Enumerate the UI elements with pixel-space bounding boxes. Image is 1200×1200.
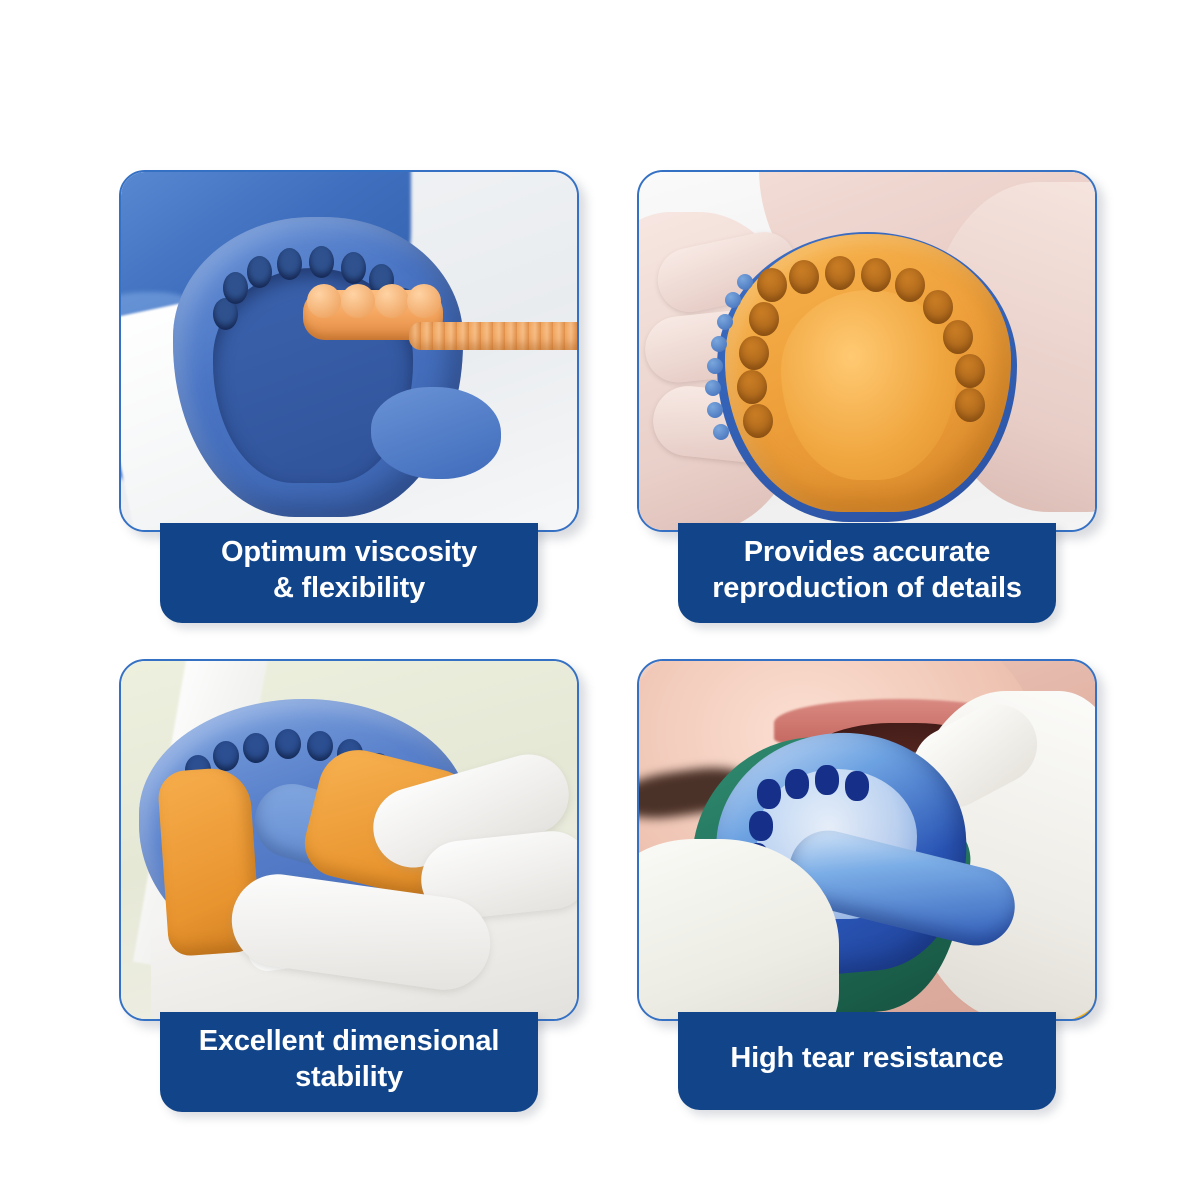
card-image-frame bbox=[637, 170, 1097, 532]
feature-grid-page: Optimum viscosity & flexibility bbox=[0, 0, 1200, 1200]
photo-tear-resistance bbox=[639, 661, 1095, 1019]
feature-card-optimum-viscosity[interactable]: Optimum viscosity & flexibility bbox=[119, 170, 579, 621]
card-caption-text: High tear resistance bbox=[730, 1041, 1003, 1077]
photo-accurate-reproduction bbox=[639, 172, 1095, 530]
card-image-frame bbox=[637, 659, 1097, 1021]
mixing-tip-nozzle bbox=[409, 322, 577, 350]
photo-dimensional-stability bbox=[121, 661, 577, 1019]
card-caption-plate: High tear resistance bbox=[678, 1012, 1056, 1110]
feature-card-dimensional-stability[interactable]: Excellent dimensional stability bbox=[119, 659, 579, 1110]
feature-card-tear-resistance[interactable]: High tear resistance bbox=[637, 659, 1097, 1110]
card-caption-text: Excellent dimensional stability bbox=[199, 1024, 499, 1096]
card-caption-text: Optimum viscosity & flexibility bbox=[221, 535, 477, 607]
card-caption-text: Provides accurate reproduction of detail… bbox=[712, 535, 1022, 607]
card-image-frame bbox=[119, 659, 579, 1021]
card-caption-plate: Excellent dimensional stability bbox=[160, 1012, 538, 1112]
tray-handle bbox=[371, 387, 501, 479]
feature-card-grid: Optimum viscosity & flexibility bbox=[119, 170, 1081, 1110]
photo-optimum-viscosity bbox=[121, 172, 577, 530]
card-image-frame bbox=[119, 170, 579, 532]
card-caption-plate: Optimum viscosity & flexibility bbox=[160, 523, 538, 623]
card-caption-plate: Provides accurate reproduction of detail… bbox=[678, 523, 1056, 623]
feature-card-accurate-reproduction[interactable]: Provides accurate reproduction of detail… bbox=[637, 170, 1097, 621]
